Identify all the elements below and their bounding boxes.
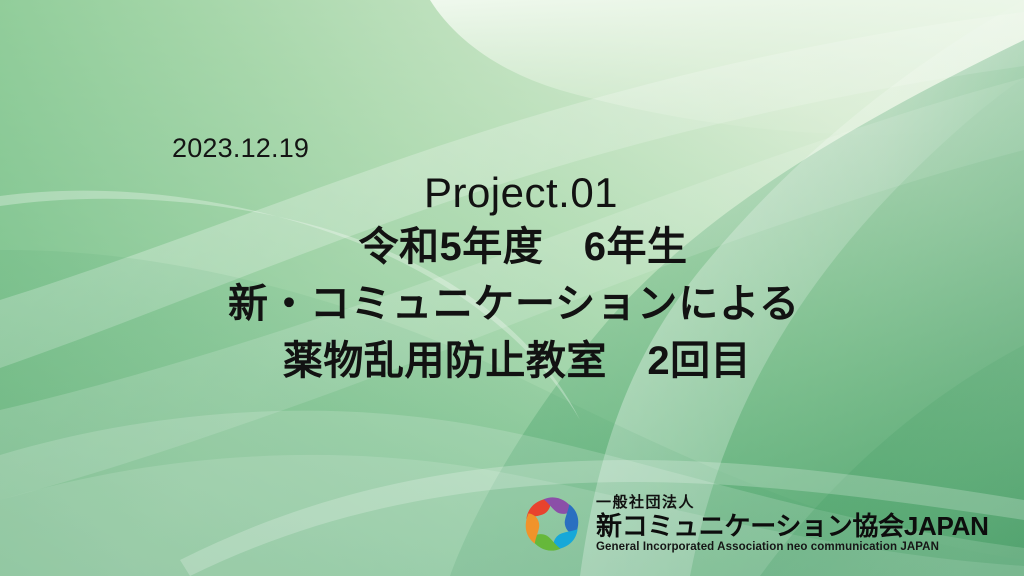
title-line-year-grade: 令和5年度 6年生 [0, 227, 1024, 267]
slide-date: 2023.12.19 [172, 133, 309, 164]
slide-title-block: Project.01 令和5年度 6年生 新・コミュニケーションによる 薬物乱用… [0, 172, 1024, 381]
organization-name-block: 一般社団法人 新コミュニケーション協会JAPAN General Incorpo… [596, 495, 989, 554]
title-line-class-session: 薬物乱用防止教室 2回目 [0, 341, 1024, 381]
organization-logo: 一般社団法人 新コミュニケーション協会JAPAN General Incorpo… [516, 492, 989, 556]
title-line-project: Project.01 [0, 172, 1024, 214]
slide-text-layer: 2023.12.19 Project.01 令和5年度 6年生 新・コミュニケー… [0, 0, 1024, 576]
pinwheel-people-logo-icon [516, 492, 588, 556]
title-line-communication: 新・コミュニケーションによる [0, 284, 1024, 324]
org-name-jp: 新コミュニケーション協会JAPAN [596, 513, 989, 539]
org-name-en: General Incorporated Association neo com… [596, 542, 989, 554]
presentation-slide: 2023.12.19 Project.01 令和5年度 6年生 新・コミュニケー… [0, 0, 1024, 576]
org-legal-prefix: 一般社団法人 [596, 495, 989, 510]
